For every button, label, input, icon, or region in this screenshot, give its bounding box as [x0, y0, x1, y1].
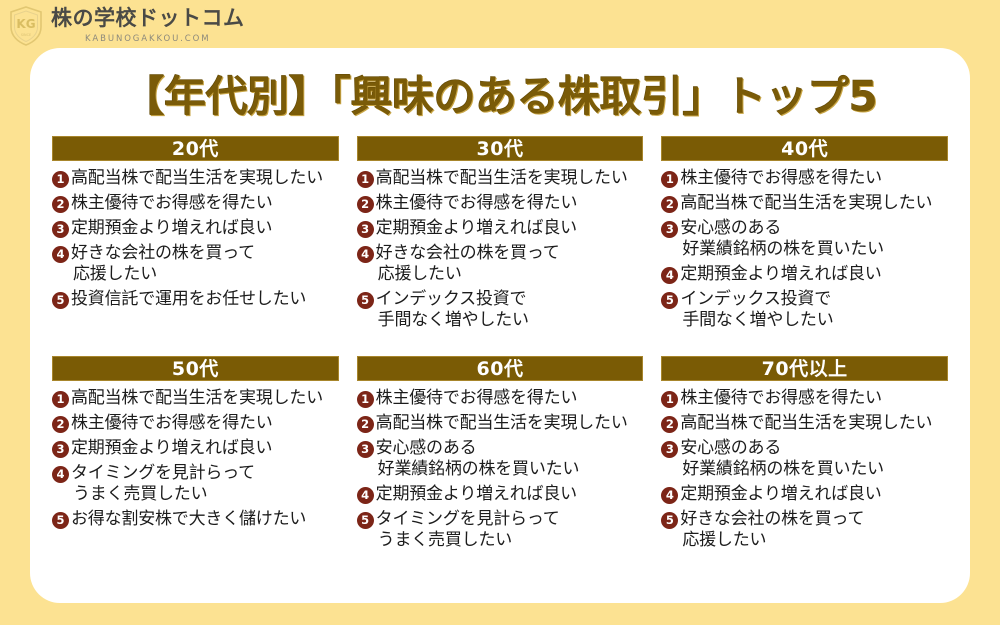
list-item: 5タイミングを見計らってうまく売買したい: [357, 509, 644, 551]
rank-badge: 5: [52, 292, 69, 309]
age-group-column: 20代1高配当株で配当生活を実現したい2株主優待でお得感を得たい3定期預金より増…: [52, 136, 339, 344]
list-item-line1: 株主優待でお得感を得たい: [376, 193, 578, 213]
rank-badge: 3: [661, 221, 678, 238]
age-group-header: 40代: [661, 136, 948, 161]
list-item-line1: 好きな会社の株を買って: [71, 243, 255, 263]
list-item-text: 安心感のある好業績銘柄の株を買いたい: [680, 218, 884, 260]
list-item-text: 好きな会社の株を買って応援したい: [376, 243, 560, 285]
list-item-line2: 応援したい: [376, 264, 560, 285]
list-item: 1株主優待でお得感を得たい: [661, 388, 948, 409]
list-item: 4定期預金より増えれば良い: [661, 264, 948, 285]
age-group-column: 40代1株主優待でお得感を得たい2高配当株で配当生活を実現したい3安心感のある好…: [661, 136, 948, 344]
list-item: 2株主優待でお得感を得たい: [52, 193, 339, 214]
list-item-text: 定期預金より増えれば良い: [680, 264, 881, 285]
list-item-text: 高配当株で配当生活を実現したい: [680, 193, 932, 214]
ranked-list: 1高配当株で配当生活を実現したい2株主優待でお得感を得たい3定期預金より増えれば…: [357, 168, 644, 336]
list-item-line1: 投資信託で運用をお任せしたい: [71, 289, 306, 309]
list-item-line2: 手間なく増やしたい: [376, 310, 529, 331]
list-item: 4定期預金より増えれば良い: [661, 484, 948, 505]
age-group-column: 30代1高配当株で配当生活を実現したい2株主優待でお得感を得たい3定期預金より増…: [357, 136, 644, 344]
ranked-list: 1株主優待でお得感を得たい2高配当株で配当生活を実現したい3安心感のある好業績銘…: [357, 388, 644, 556]
list-item: 3安心感のある好業績銘柄の株を買いたい: [661, 438, 948, 480]
list-item-text: 株主優待でお得感を得たい: [376, 388, 578, 409]
rank-badge: 1: [357, 171, 374, 188]
rank-badge: 5: [52, 512, 69, 529]
list-item-line1: 定期預金より増えれば良い: [680, 264, 881, 284]
ranked-list: 1株主優待でお得感を得たい2高配当株で配当生活を実現したい3安心感のある好業績銘…: [661, 388, 948, 556]
list-item-line1: 高配当株で配当生活を実現したい: [680, 193, 932, 213]
list-item-text: 定期預金より増えれば良い: [680, 484, 881, 505]
list-item-line1: 高配当株で配当生活を実現したい: [680, 413, 932, 433]
rank-badge: 5: [661, 292, 678, 309]
list-item-line2: 応援したい: [680, 530, 864, 551]
list-item-line1: タイミングを見計らって: [376, 509, 560, 529]
rank-badge: 2: [357, 196, 374, 213]
list-item-line2: 好業績銘柄の株を買いたい: [376, 459, 580, 480]
list-item: 2高配当株で配当生活を実現したい: [357, 413, 644, 434]
rank-badge: 2: [52, 416, 69, 433]
list-item: 3安心感のある好業績銘柄の株を買いたい: [357, 438, 644, 480]
list-item: 2株主優待でお得感を得たい: [52, 413, 339, 434]
list-item-line1: 安心感のある: [680, 438, 781, 458]
list-item: 5インデックス投資で手間なく増やしたい: [661, 289, 948, 331]
rank-badge: 4: [661, 267, 678, 284]
rank-badge: 1: [661, 391, 678, 408]
list-item-line1: インデックス投資で: [376, 289, 527, 309]
list-item-text: 株主優待でお得感を得たい: [71, 193, 273, 214]
list-item: 1株主優待でお得感を得たい: [661, 168, 948, 189]
list-item-text: 高配当株で配当生活を実現したい: [680, 413, 932, 434]
list-item-text: タイミングを見計らってうまく売買したい: [71, 463, 255, 505]
list-item-text: 定期預金より増えれば良い: [376, 484, 577, 505]
list-item-text: 安心感のある好業績銘柄の株を買いたい: [376, 438, 580, 480]
list-item-line1: インデックス投資で: [680, 289, 831, 309]
list-item: 1高配当株で配当生活を実現したい: [52, 168, 339, 189]
list-item-text: 投資信託で運用をお任せしたい: [71, 289, 306, 310]
list-item: 3定期預金より増えれば良い: [357, 218, 644, 239]
age-group-header: 60代: [357, 356, 644, 381]
rank-badge: 1: [357, 391, 374, 408]
list-item-line2: うまく売買したい: [376, 530, 560, 551]
list-item: 2株主優待でお得感を得たい: [357, 193, 644, 214]
list-item-line1: 定期預金より増えれば良い: [376, 218, 577, 238]
list-item-text: 高配当株で配当生活を実現したい: [71, 388, 323, 409]
content-card: 【年代別】「興味のある株取引」トップ5 20代1高配当株で配当生活を実現したい2…: [30, 48, 970, 603]
ranked-list: 1株主優待でお得感を得たい2高配当株で配当生活を実現したい3安心感のある好業績銘…: [661, 168, 948, 336]
list-item: 2高配当株で配当生活を実現したい: [661, 193, 948, 214]
list-item-text: 株主優待でお得感を得たい: [376, 193, 578, 214]
list-item-text: 好きな会社の株を買って応援したい: [71, 243, 255, 285]
list-item: 3安心感のある好業績銘柄の株を買いたい: [661, 218, 948, 260]
list-item-line1: お得な割安株で大きく儲けたい: [71, 509, 306, 529]
list-item: 1株主優待でお得感を得たい: [357, 388, 644, 409]
rank-badge: 2: [661, 416, 678, 433]
rank-badge: 4: [357, 487, 374, 504]
list-item-line1: 株主優待でお得感を得たい: [680, 388, 882, 408]
list-item-text: 高配当株で配当生活を実現したい: [376, 413, 628, 434]
brand-name: 株の学校ドットコム: [51, 8, 245, 29]
rank-badge: 3: [661, 441, 678, 458]
list-item-line1: 安心感のある: [376, 438, 477, 458]
list-item-line2: うまく売買したい: [71, 484, 255, 505]
age-group-header: 20代: [52, 136, 339, 161]
list-item-line2: 好業績銘柄の株を買いたい: [680, 459, 884, 480]
age-group-header: 30代: [357, 136, 644, 161]
list-item-line1: 高配当株で配当生活を実現したい: [376, 168, 628, 188]
page-title: 【年代別】「興味のある株取引」トップ5: [52, 72, 948, 122]
list-item-line1: 株主優待でお得感を得たい: [71, 193, 273, 213]
list-item: 2高配当株で配当生活を実現したい: [661, 413, 948, 434]
rank-badge: 5: [357, 292, 374, 309]
list-item: 5投資信託で運用をお任せしたい: [52, 289, 339, 310]
svg-text:KG: KG: [16, 17, 35, 31]
list-item-line2: 応援したい: [71, 264, 255, 285]
age-group-header: 50代: [52, 356, 339, 381]
list-item: 4好きな会社の株を買って応援したい: [357, 243, 644, 285]
rank-badge: 3: [52, 441, 69, 458]
rank-badge: 3: [357, 441, 374, 458]
brand-url: KABUNOGAKKOU.COM: [51, 35, 245, 44]
rank-badge: 1: [52, 171, 69, 188]
list-item-text: 高配当株で配当生活を実現したい: [376, 168, 628, 189]
age-group-grid: 20代1高配当株で配当生活を実現したい2株主優待でお得感を得たい3定期預金より増…: [52, 136, 948, 564]
list-item-text: 株主優待でお得感を得たい: [71, 413, 273, 434]
list-item: 3定期預金より増えれば良い: [52, 438, 339, 459]
list-item: 1高配当株で配当生活を実現したい: [52, 388, 339, 409]
list-item-line1: 定期預金より増えれば良い: [71, 438, 272, 458]
list-item-line1: 定期預金より増えれば良い: [71, 218, 272, 238]
list-item-line1: 定期預金より増えれば良い: [680, 484, 881, 504]
ranked-list: 1高配当株で配当生活を実現したい2株主優待でお得感を得たい3定期預金より増えれば…: [52, 388, 339, 534]
list-item-line1: タイミングを見計らって: [71, 463, 255, 483]
list-item-text: お得な割安株で大きく儲けたい: [71, 509, 306, 530]
ranked-list: 1高配当株で配当生活を実現したい2株主優待でお得感を得たい3定期預金より増えれば…: [52, 168, 339, 314]
list-item-line1: 安心感のある: [680, 218, 781, 238]
age-group-column: 70代以上1株主優待でお得感を得たい2高配当株で配当生活を実現したい3安心感のあ…: [661, 356, 948, 564]
list-item: 4好きな会社の株を買って応援したい: [52, 243, 339, 285]
rank-badge: 5: [661, 512, 678, 529]
list-item-text: インデックス投資で手間なく増やしたい: [376, 289, 529, 331]
list-item: 1高配当株で配当生活を実現したい: [357, 168, 644, 189]
rank-badge: 3: [357, 221, 374, 238]
list-item-text: 定期預金より増えれば良い: [71, 438, 272, 459]
list-item-text: 株主優待でお得感を得たい: [680, 168, 882, 189]
list-item-text: 高配当株で配当生活を実現したい: [71, 168, 323, 189]
rank-badge: 2: [357, 416, 374, 433]
list-item: 5インデックス投資で手間なく増やしたい: [357, 289, 644, 331]
list-item: 4タイミングを見計らってうまく売買したい: [52, 463, 339, 505]
rank-badge: 4: [661, 487, 678, 504]
list-item-line1: 定期預金より増えれば良い: [376, 484, 577, 504]
list-item-line1: 好きな会社の株を買って: [680, 509, 864, 529]
list-item-text: インデックス投資で手間なく増やしたい: [680, 289, 833, 331]
brand-logo: KG SINCE 株の学校ドットコム KABUNOGAKKOU.COM: [8, 4, 245, 47]
list-item-line1: 高配当株で配当生活を実現したい: [376, 413, 628, 433]
rank-badge: 2: [52, 196, 69, 213]
list-item-text: 定期預金より増えれば良い: [376, 218, 577, 239]
rank-badge: 2: [661, 196, 678, 213]
age-group-header: 70代以上: [661, 356, 948, 381]
brand-text-block: 株の学校ドットコム KABUNOGAKKOU.COM: [51, 4, 245, 44]
list-item-text: 安心感のある好業績銘柄の株を買いたい: [680, 438, 884, 480]
rank-badge: 3: [52, 221, 69, 238]
list-item: 5好きな会社の株を買って応援したい: [661, 509, 948, 551]
list-item: 5お得な割安株で大きく儲けたい: [52, 509, 339, 530]
age-group-column: 50代1高配当株で配当生活を実現したい2株主優待でお得感を得たい3定期預金より増…: [52, 356, 339, 564]
list-item-text: 好きな会社の株を買って応援したい: [680, 509, 864, 551]
rank-badge: 4: [357, 246, 374, 263]
rank-badge: 1: [661, 171, 678, 188]
list-item-text: タイミングを見計らってうまく売買したい: [376, 509, 560, 551]
rank-badge: 5: [357, 512, 374, 529]
list-item-text: 株主優待でお得感を得たい: [680, 388, 882, 409]
shield-kg-icon: KG SINCE: [8, 5, 44, 47]
list-item-line1: 高配当株で配当生活を実現したい: [71, 388, 323, 408]
rank-badge: 1: [52, 391, 69, 408]
list-item-line2: 手間なく増やしたい: [680, 310, 833, 331]
age-group-column: 60代1株主優待でお得感を得たい2高配当株で配当生活を実現したい3安心感のある好…: [357, 356, 644, 564]
list-item: 4定期預金より増えれば良い: [357, 484, 644, 505]
list-item-line1: 高配当株で配当生活を実現したい: [71, 168, 323, 188]
list-item: 3定期預金より増えれば良い: [52, 218, 339, 239]
list-item-line1: 株主優待でお得感を得たい: [71, 413, 273, 433]
list-item-text: 定期預金より増えれば良い: [71, 218, 272, 239]
svg-text:SINCE: SINCE: [21, 33, 31, 37]
list-item-line1: 好きな会社の株を買って: [376, 243, 560, 263]
rank-badge: 4: [52, 246, 69, 263]
rank-badge: 4: [52, 466, 69, 483]
list-item-line2: 好業績銘柄の株を買いたい: [680, 239, 884, 260]
list-item-line1: 株主優待でお得感を得たい: [680, 168, 882, 188]
list-item-line1: 株主優待でお得感を得たい: [376, 388, 578, 408]
